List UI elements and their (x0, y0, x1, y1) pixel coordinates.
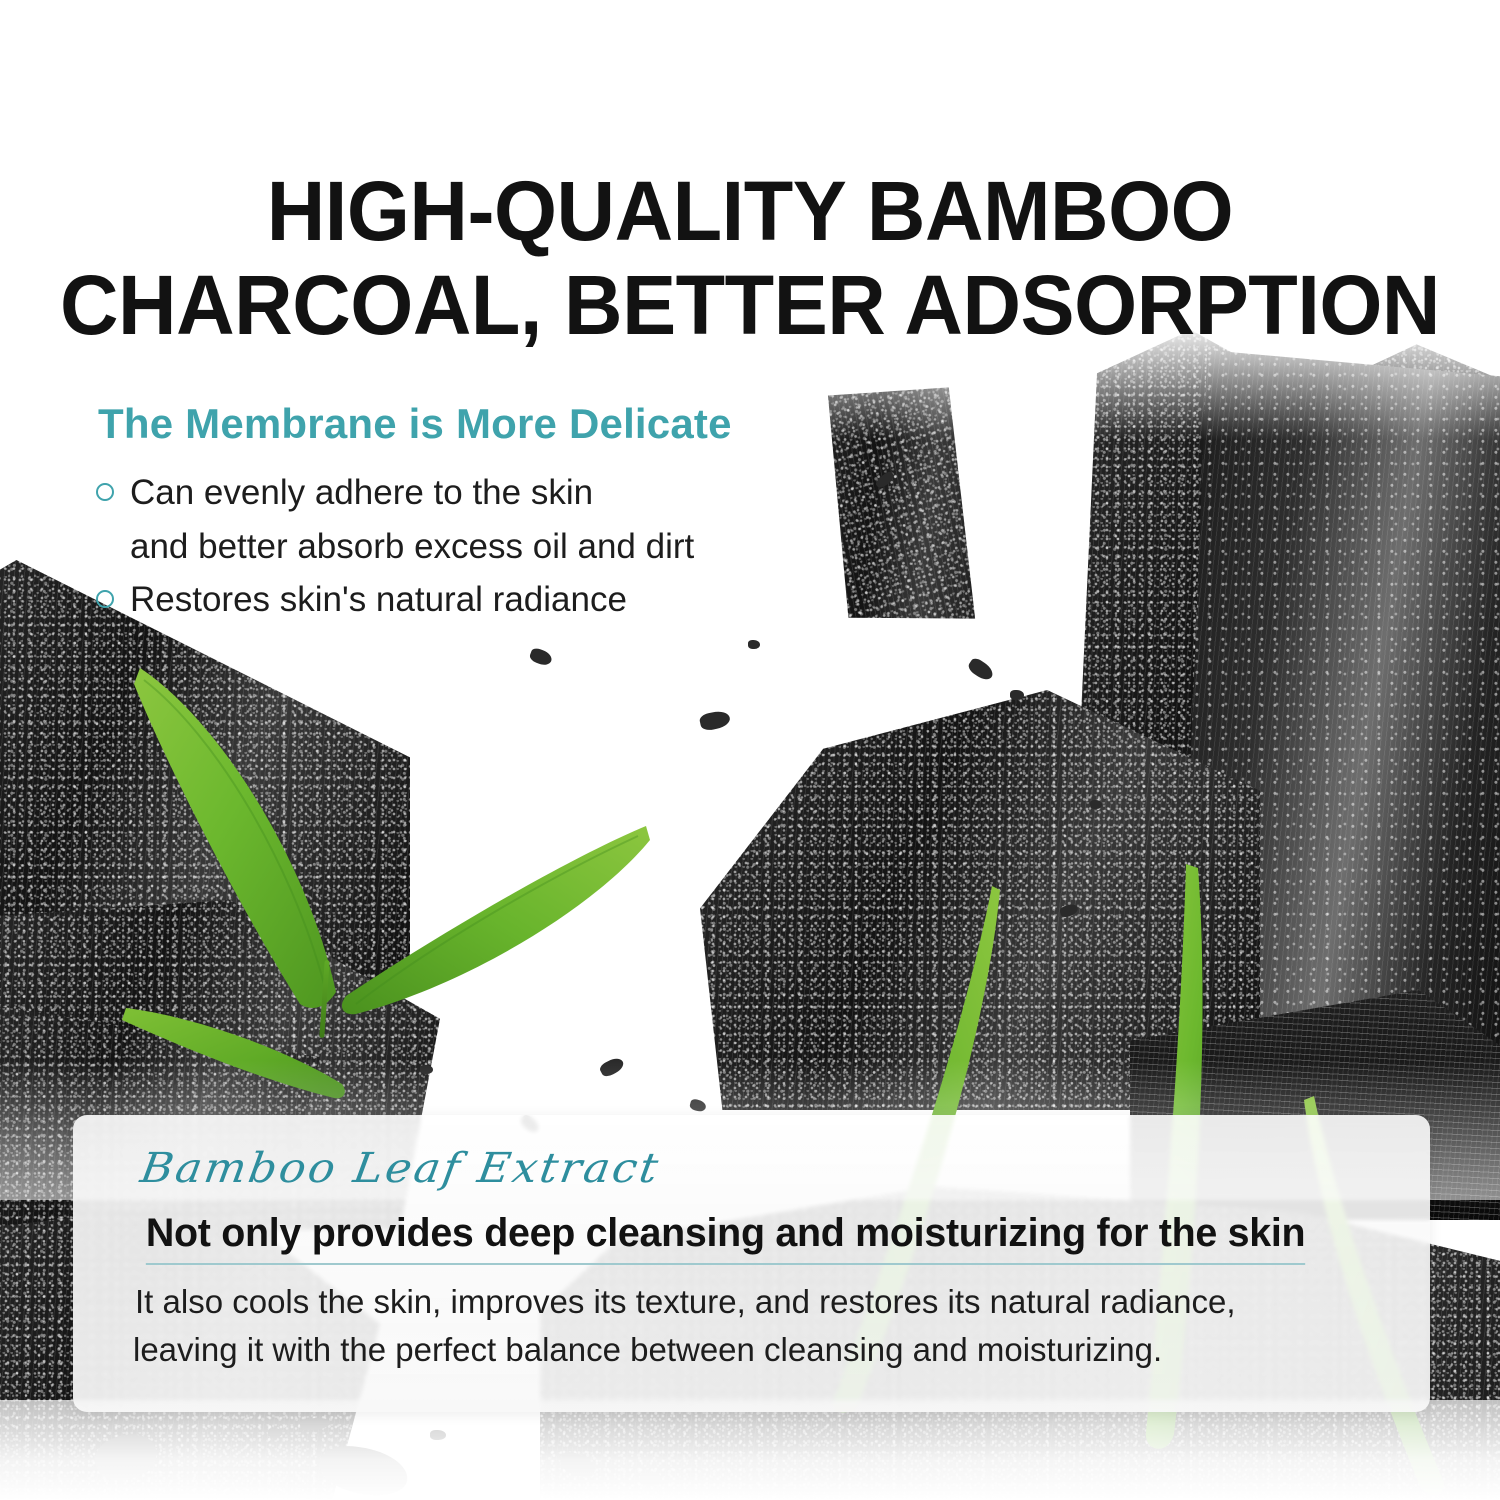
panel-headline: Not only provides deep cleansing and moi… (146, 1211, 1305, 1265)
headline-line-2: CHARCOAL, BETTER ADSORPTION (26, 258, 1474, 352)
charcoal-debris-1 (528, 647, 553, 668)
bullet-1-line-2: and better absorb excess oil and dirt (130, 520, 694, 574)
bamboo-leaf-sprout-right (320, 810, 660, 1030)
headline-line-1: HIGH-QUALITY BAMBOO (26, 164, 1474, 258)
circle-outline-icon (96, 483, 114, 501)
panel-body-line-2: leaving it with the perfect balance betw… (133, 1326, 1380, 1374)
panel-script-title: Bamboo Leaf Extract (137, 1145, 663, 1193)
bullet-text: Restores skin's natural radiance (130, 573, 627, 627)
charcoal-debris-4 (966, 656, 996, 683)
product-feature-image: HIGH-QUALITY BAMBOO CHARCOAL, BETTER ADS… (0, 0, 1500, 1500)
charcoal-debris-11 (1090, 800, 1102, 809)
bullet-1-line-1: Can evenly adhere to the skin (130, 473, 593, 512)
charcoal-debris-3 (748, 640, 760, 649)
feature-subheading: The Membrane is More Delicate (98, 400, 732, 448)
bullet-2-line-1: Restores skin's natural radiance (130, 580, 627, 619)
charcoal-debris-2 (699, 709, 732, 732)
panel-body-text: It also cools the skin, improves its tex… (135, 1278, 1380, 1374)
page-title: HIGH-QUALITY BAMBOO CHARCOAL, BETTER ADS… (26, 164, 1474, 352)
charcoal-debris-5 (1010, 690, 1024, 700)
circle-outline-icon (96, 590, 114, 608)
list-item: Can evenly adhere to the skin and better… (96, 466, 694, 573)
feature-bullet-list: Can evenly adhere to the skin and better… (96, 466, 694, 627)
bullet-text: Can evenly adhere to the skin and better… (130, 466, 694, 573)
panel-body-line-1: It also cools the skin, improves its tex… (135, 1278, 1380, 1326)
list-item: Restores skin's natural radiance (96, 573, 694, 627)
white-haze-bottom (0, 1400, 1500, 1500)
bamboo-extract-panel: Bamboo Leaf Extract Not only provides de… (73, 1115, 1430, 1412)
